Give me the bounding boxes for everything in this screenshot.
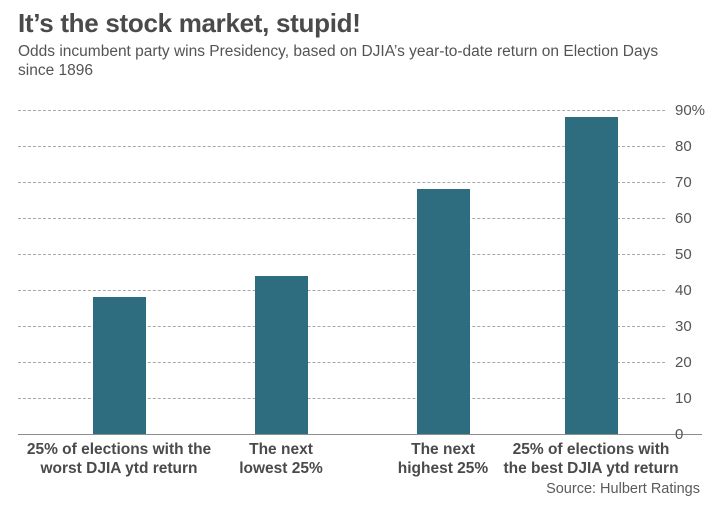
source-attribution: Source: Hulbert Ratings bbox=[546, 481, 700, 497]
x-axis-label-line: 25% of elections with the bbox=[4, 440, 234, 459]
bar bbox=[565, 117, 618, 434]
x-axis-label-line: lowest 25% bbox=[206, 459, 356, 478]
bar bbox=[417, 189, 470, 434]
plot-area: 90%80706050403020100 bbox=[18, 110, 665, 434]
x-axis-label-line: The next bbox=[206, 440, 356, 459]
chart-title: It’s the stock market, stupid! bbox=[18, 8, 704, 38]
chart-header: It’s the stock market, stupid! Odds incu… bbox=[18, 8, 704, 80]
chart-figure: It’s the stock market, stupid! Odds incu… bbox=[0, 0, 720, 510]
x-axis-label-line: 25% of elections with bbox=[484, 440, 699, 459]
chart-subtitle: Odds incumbent party wins Presidency, ba… bbox=[18, 42, 696, 80]
y-axis-tick-label: 80 bbox=[675, 139, 692, 154]
x-axis-label-line: the best DJIA ytd return bbox=[484, 459, 699, 478]
x-axis-label: The nextlowest 25% bbox=[206, 440, 356, 478]
y-axis-tick-label: 60 bbox=[675, 211, 692, 226]
y-axis-tick-label: 50 bbox=[675, 247, 692, 262]
x-axis-label-line: worst DJIA ytd return bbox=[4, 459, 234, 478]
x-axis-label: 25% of elections withthe best DJIA ytd r… bbox=[484, 440, 699, 478]
bar bbox=[93, 297, 146, 434]
y-axis-tick-label: 40 bbox=[675, 283, 692, 298]
gridline-90 bbox=[18, 110, 665, 111]
x-axis-label: 25% of elections with theworst DJIA ytd … bbox=[4, 440, 234, 478]
y-axis-tick-label: 10 bbox=[675, 391, 692, 406]
y-axis-tick-label: 30 bbox=[675, 319, 692, 334]
x-axis-line bbox=[18, 434, 702, 435]
x-axis-category-labels: 25% of elections with theworst DJIA ytd … bbox=[0, 440, 680, 486]
y-axis-tick-label: 70 bbox=[675, 175, 692, 190]
y-axis-tick-label: 20 bbox=[675, 355, 692, 370]
y-axis-tick-label: 90% bbox=[675, 103, 705, 118]
bar bbox=[255, 276, 308, 434]
